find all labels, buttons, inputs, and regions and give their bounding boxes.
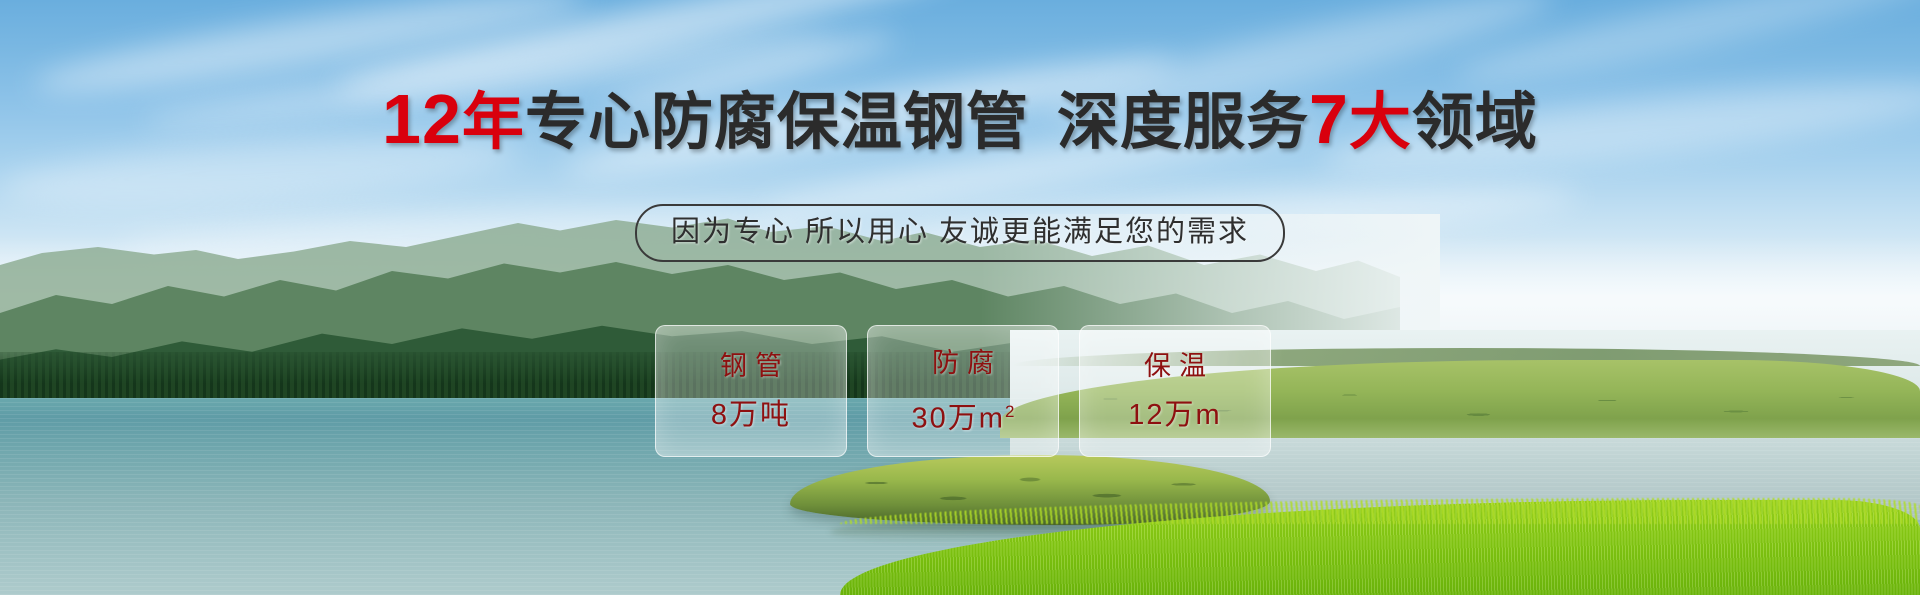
stat-card-value-text: 30万m [912, 402, 1005, 434]
stat-card-value-superscript: 2 [1005, 402, 1014, 421]
stat-card-steel-pipe[interactable]: 钢管 8万吨 [655, 325, 847, 457]
banner-subtitle-wrap: 因为专心 所以用心 友诚更能满足您的需求 [0, 204, 1920, 262]
stat-card-insulation[interactable]: 保温 12万m [1079, 325, 1271, 457]
headline-years-unit: 年 [462, 88, 525, 157]
stat-card-group: 钢管 8万吨 防腐 30万m2 保温 12万m [655, 325, 1271, 457]
headline-number-years: 12 [382, 80, 462, 158]
stat-card-anticorrosion[interactable]: 防腐 30万m2 [867, 325, 1059, 457]
headline-fields-unit: 大 [1349, 88, 1412, 157]
stat-card-value: 12万m [1128, 399, 1221, 431]
banner-subtitle: 因为专心 所以用心 友诚更能满足您的需求 [635, 204, 1285, 262]
stat-card-value: 8万吨 [711, 399, 791, 431]
stat-card-title: 防腐 [924, 348, 1002, 378]
stat-card-value-text: 12万m [1128, 399, 1221, 431]
headline-number-fields: 7 [1309, 80, 1349, 158]
stat-card-title: 钢管 [712, 351, 790, 381]
stat-card-value: 30万m2 [912, 396, 1015, 435]
headline-part-three: 领域 [1412, 88, 1538, 157]
hero-banner: 12年专心防腐保温钢管深度服务7大领域 因为专心 所以用心 友诚更能满足您的需求… [0, 0, 1920, 595]
banner-headline: 12年专心防腐保温钢管深度服务7大领域 [0, 86, 1920, 156]
stat-card-value-text: 8万吨 [711, 399, 791, 431]
stat-card-title: 保温 [1136, 351, 1214, 381]
headline-part-one: 专心防腐保温钢管 [525, 88, 1029, 157]
headline-part-two: 深度服务 [1057, 88, 1309, 157]
